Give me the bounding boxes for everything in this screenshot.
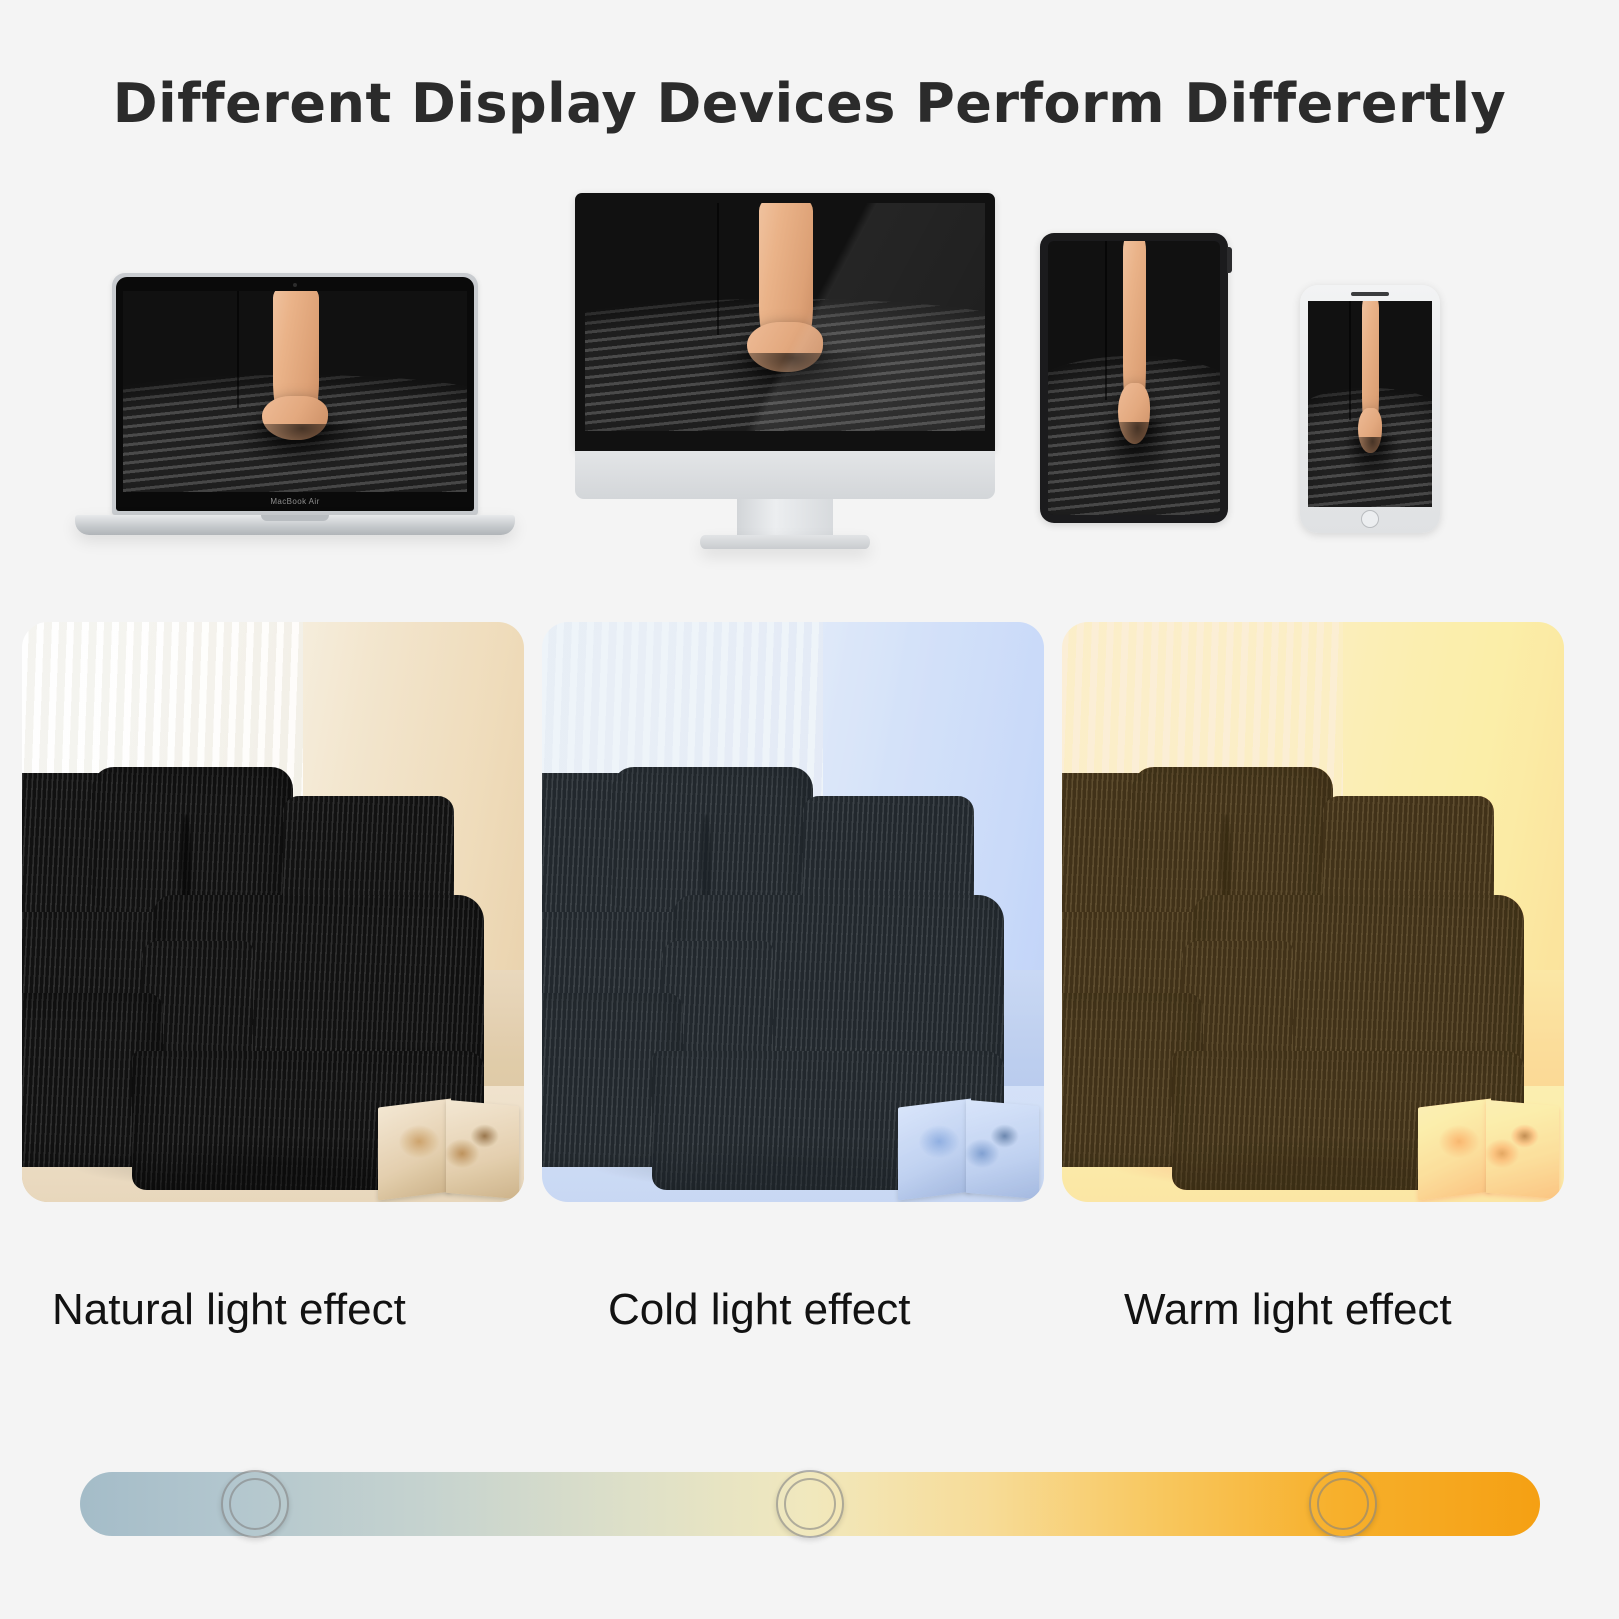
tablet-side-button [1227,247,1232,273]
page-title: Different Display Devices Perform Differ… [0,72,1619,135]
magazine-prop [1418,1103,1559,1196]
infographic-page: Different Display Devices Perform Differ… [0,0,1619,1619]
laptop-brand-label: MacBook Air [116,497,474,506]
panel-warm-light [1062,622,1564,1202]
phone-frame [1300,285,1440,533]
room-scene [22,622,524,1202]
laptop-base [75,515,515,535]
laptop-screen-image [123,291,467,492]
monitor-chin [575,451,995,499]
caption-cold-light: Cold light effect [608,1285,910,1335]
phone-icon [1300,285,1440,533]
magazine-prop [898,1103,1039,1196]
panel-caption-row: Natural light effect Cold light effect W… [0,1285,1619,1365]
slider-handle-neutral[interactable] [776,1470,844,1538]
phone-screen-image [1308,301,1432,507]
tablet-icon [1040,233,1228,523]
room-scene [542,622,1044,1202]
tablet-screen-image [1048,241,1220,515]
monitor-screen-image [585,203,985,431]
light-effect-panel-group [22,622,1597,1202]
device-showcase-row: MacBook Air [0,185,1619,555]
laptop-camera-icon [293,283,297,287]
laptop-icon: MacBook Air [75,273,515,535]
desktop-monitor-icon [575,193,995,541]
magazine-prop [378,1103,519,1196]
panel-natural-light [22,622,524,1202]
room-scene [1062,622,1564,1202]
laptop-notch [261,515,329,521]
phone-speaker-icon [1351,292,1389,296]
color-temperature-slider[interactable] [80,1472,1540,1536]
phone-home-button-icon [1361,510,1379,528]
caption-warm-light: Warm light effect [1124,1285,1452,1335]
laptop-bezel: MacBook Air [116,277,474,511]
tablet-frame [1040,233,1228,523]
panel-cold-light [542,622,1044,1202]
slider-handle-warm[interactable] [1309,1470,1377,1538]
monitor-stand-foot [700,535,870,549]
laptop-lid: MacBook Air [112,273,478,515]
monitor-frame [575,193,995,451]
slider-handle-cold[interactable] [221,1470,289,1538]
caption-natural-light: Natural light effect [52,1285,406,1335]
